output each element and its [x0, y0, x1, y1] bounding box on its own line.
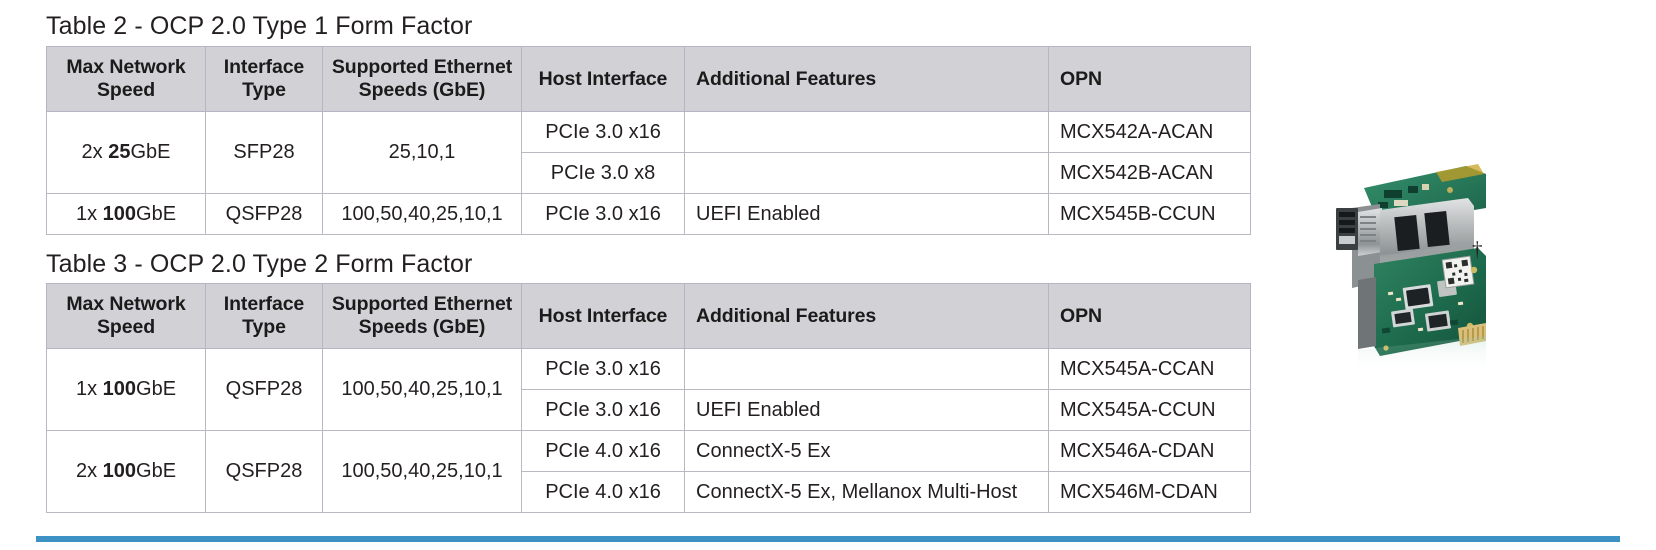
- header-line-1: Interface: [206, 293, 322, 316]
- bottom-accent-rule: [36, 536, 1620, 542]
- speed-prefix: 2x: [76, 460, 103, 482]
- cell-interface-type: QSFP28: [206, 194, 323, 235]
- speed-value: 100: [103, 203, 136, 225]
- header-line-2: Type: [206, 316, 322, 339]
- speed-prefix: 1x: [76, 203, 103, 225]
- cell-host-interface: PCIe 3.0 x16: [522, 349, 685, 390]
- cell-opn: MCX546M-CDAN: [1049, 472, 1251, 513]
- cell-additional-features: ConnectX-5 Ex: [685, 431, 1049, 472]
- header-line-1: Max Network: [47, 293, 205, 316]
- cell-host-interface: PCIe 3.0 x16: [522, 112, 685, 153]
- speed-suffix: GbE: [136, 378, 176, 400]
- cell-additional-features: UEFI Enabled: [685, 194, 1049, 235]
- table-row: 2x 25GbE SFP28 25,10,1 PCIe 3.0 x16 MCX5…: [47, 112, 1251, 153]
- cell-opn: MCX542B-ACAN: [1049, 153, 1251, 194]
- adapter-card-illustration: [1318, 160, 1486, 375]
- cell-host-interface: PCIe 4.0 x16: [522, 472, 685, 513]
- cell-host-interface: PCIe 3.0 x8: [522, 153, 685, 194]
- cell-opn: MCX545B-CCUN: [1049, 194, 1251, 235]
- cell-additional-features: ConnectX-5 Ex, Mellanox Multi-Host: [685, 472, 1049, 513]
- column-header-max-network-speed: Max Network Speed: [47, 47, 206, 112]
- speed-prefix: 2x: [82, 141, 109, 163]
- footnote-dagger-marker: †: [1472, 239, 1483, 260]
- cell-additional-features: [685, 112, 1049, 153]
- column-header-host-interface: Host Interface: [522, 47, 685, 112]
- header-line-2: Speed: [47, 79, 205, 102]
- table-3-title: Table 3 - OCP 2.0 Type 2 Form Factor: [46, 250, 472, 279]
- header-line-1: Max Network: [47, 56, 205, 79]
- cell-interface-type: QSFP28: [206, 431, 323, 513]
- column-header-opn: OPN: [1049, 284, 1251, 349]
- cell-max-network-speed: 1x 100GbE: [47, 194, 206, 235]
- table-row: 1x 100GbE QSFP28 100,50,40,25,10,1 PCIe …: [47, 194, 1251, 235]
- cell-opn: MCX545A-CCAN: [1049, 349, 1251, 390]
- table-row: 2x 100GbE QSFP28 100,50,40,25,10,1 PCIe …: [47, 431, 1251, 472]
- column-header-supported-ethernet-speeds: Supported Ethernet Speeds (GbE): [323, 47, 522, 112]
- header-line-2: Speeds (GbE): [323, 79, 521, 102]
- speed-value: 100: [103, 460, 136, 482]
- cell-host-interface: PCIe 3.0 x16: [522, 194, 685, 235]
- cell-additional-features: [685, 349, 1049, 390]
- column-header-additional-features: Additional Features: [685, 47, 1049, 112]
- cell-opn: MCX546A-CDAN: [1049, 431, 1251, 472]
- table-header-row: Max Network Speed Interface Type Support…: [47, 284, 1251, 349]
- cell-interface-type: QSFP28: [206, 349, 323, 431]
- cell-max-network-speed: 2x 25GbE: [47, 112, 206, 194]
- column-header-supported-ethernet-speeds: Supported Ethernet Speeds (GbE): [323, 284, 522, 349]
- speed-value: 25: [108, 141, 130, 163]
- speed-suffix: GbE: [136, 203, 176, 225]
- speed-suffix: GbE: [136, 460, 176, 482]
- cell-opn: MCX542A-ACAN: [1049, 112, 1251, 153]
- table-header-row: Max Network Speed Interface Type Support…: [47, 47, 1251, 112]
- cell-host-interface: PCIe 4.0 x16: [522, 431, 685, 472]
- network-adapter-card-photo: [1318, 160, 1486, 375]
- column-header-opn: OPN: [1049, 47, 1251, 112]
- header-line-1: Interface: [206, 56, 322, 79]
- cell-host-interface: PCIe 3.0 x16: [522, 390, 685, 431]
- column-header-host-interface: Host Interface: [522, 284, 685, 349]
- table-ocp-type-1: Max Network Speed Interface Type Support…: [46, 46, 1251, 235]
- column-header-additional-features: Additional Features: [685, 284, 1049, 349]
- table-2-title: Table 2 - OCP 2.0 Type 1 Form Factor: [46, 12, 472, 41]
- column-header-interface-type: Interface Type: [206, 284, 323, 349]
- cell-additional-features: UEFI Enabled: [685, 390, 1049, 431]
- column-header-max-network-speed: Max Network Speed: [47, 284, 206, 349]
- header-line-2: Speeds (GbE): [323, 316, 521, 339]
- speed-value: 100: [103, 378, 136, 400]
- datasheet-page: Table 2 - OCP 2.0 Type 1 Form Factor Max…: [0, 0, 1656, 550]
- header-line-1: Supported Ethernet: [323, 293, 521, 316]
- cell-supported-speeds: 25,10,1: [323, 112, 522, 194]
- speed-prefix: 1x: [76, 378, 103, 400]
- cell-opn: MCX545A-CCUN: [1049, 390, 1251, 431]
- speed-suffix: GbE: [130, 141, 170, 163]
- cell-interface-type: SFP28: [206, 112, 323, 194]
- cell-max-network-speed: 1x 100GbE: [47, 349, 206, 431]
- qr-label: [1442, 256, 1474, 288]
- header-line-2: Speed: [47, 316, 205, 339]
- header-line-2: Type: [206, 79, 322, 102]
- cell-additional-features: [685, 153, 1049, 194]
- table-ocp-type-2: Max Network Speed Interface Type Support…: [46, 283, 1251, 513]
- cell-supported-speeds: 100,50,40,25,10,1: [323, 431, 522, 513]
- cell-max-network-speed: 2x 100GbE: [47, 431, 206, 513]
- cell-supported-speeds: 100,50,40,25,10,1: [323, 194, 522, 235]
- table-row: 1x 100GbE QSFP28 100,50,40,25,10,1 PCIe …: [47, 349, 1251, 390]
- header-line-1: Supported Ethernet: [323, 56, 521, 79]
- cell-supported-speeds: 100,50,40,25,10,1: [323, 349, 522, 431]
- column-header-interface-type: Interface Type: [206, 47, 323, 112]
